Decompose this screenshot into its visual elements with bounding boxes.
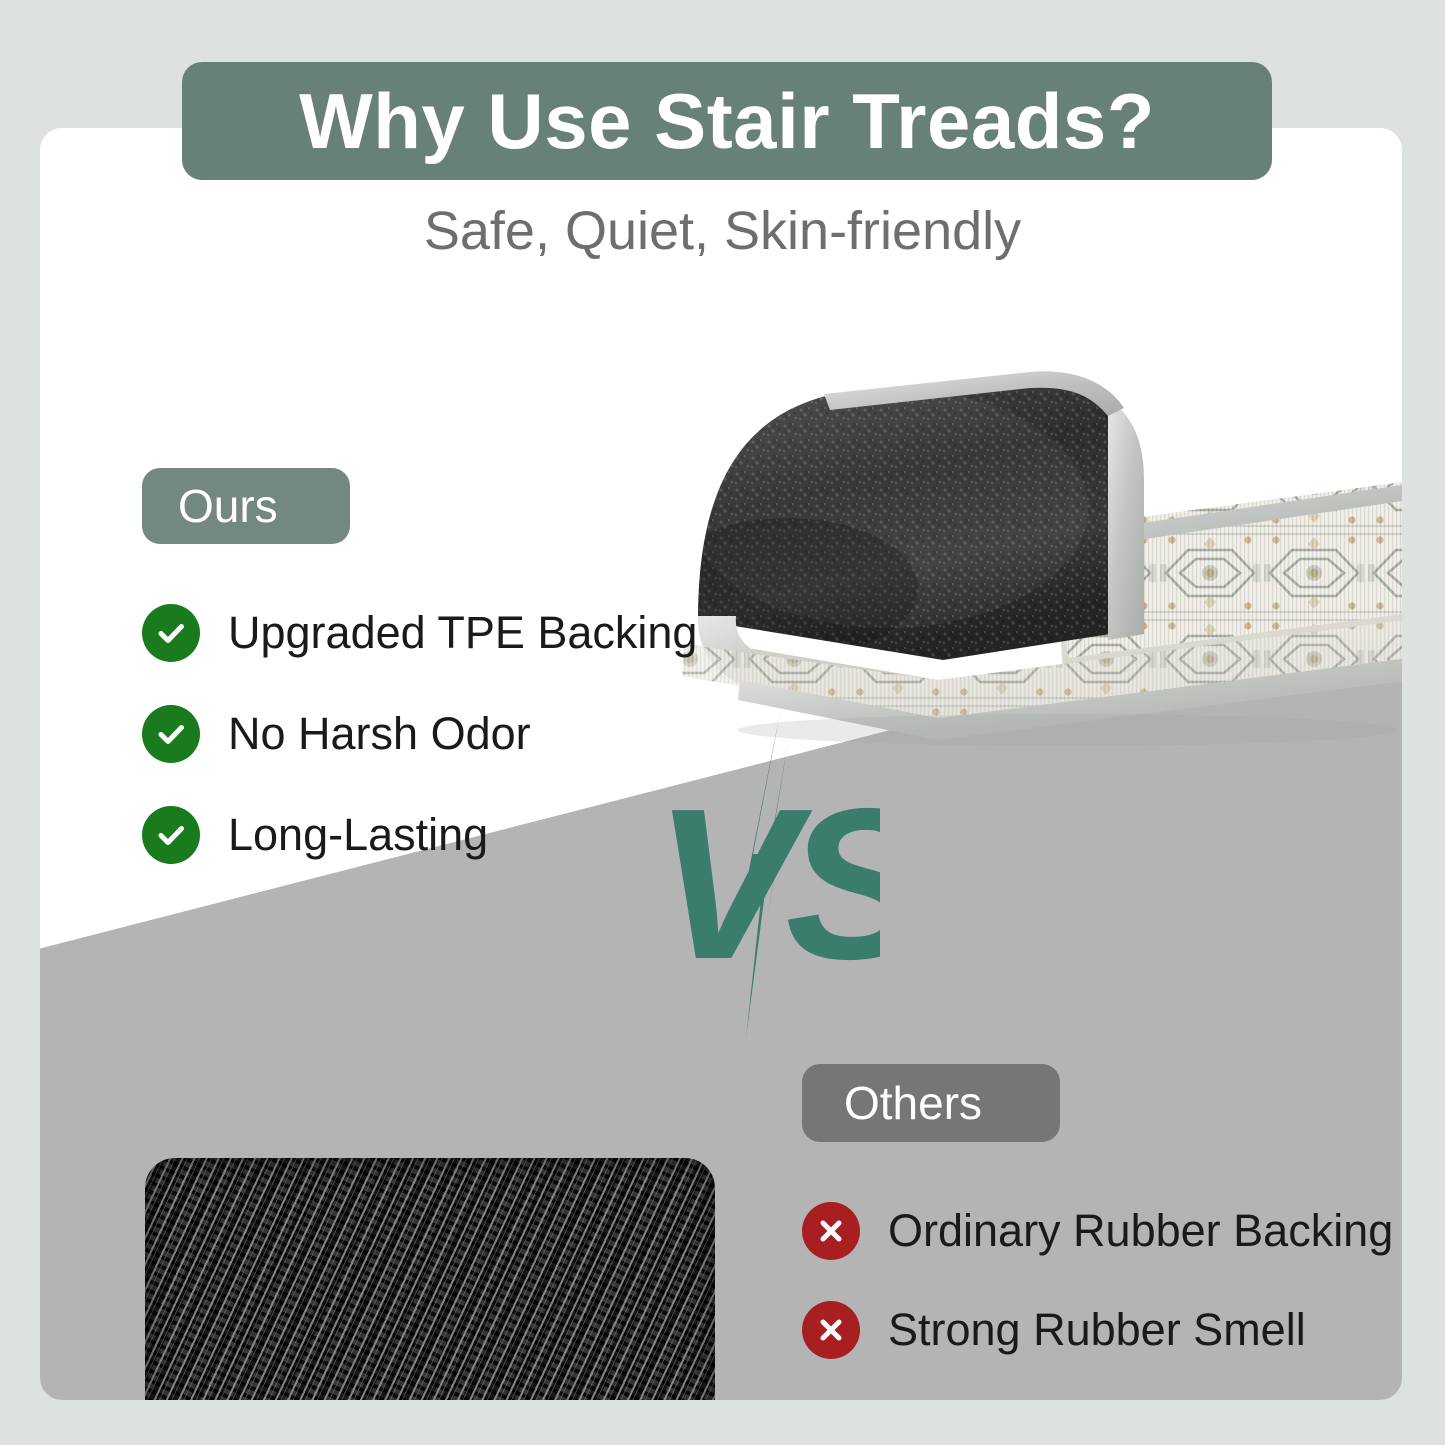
versus-mark: VS [650, 708, 880, 1038]
page-title: Why Use Stair Treads? [182, 62, 1272, 180]
feature-label: Upgraded TPE Backing [228, 607, 697, 659]
check-circle-icon [142, 806, 200, 864]
page-subtitle: Safe, Quiet, Skin-friendly [0, 200, 1445, 262]
page-title-text: Why Use Stair Treads? [299, 76, 1155, 167]
check-circle-icon [142, 705, 200, 763]
list-item: Non-durable [802, 1394, 1393, 1400]
cross-circle-icon [802, 1202, 860, 1260]
feature-label: No Harsh Odor [228, 708, 531, 760]
list-item: Strong Rubber Smell [802, 1295, 1393, 1365]
feature-label: Strong Rubber Smell [888, 1304, 1306, 1356]
feature-label: Long-Lasting [228, 809, 488, 861]
others-badge: Others [802, 1064, 1060, 1142]
ours-badge: Ours [142, 468, 350, 544]
others-product-image [145, 1158, 715, 1400]
svg-text:VS: VS [654, 763, 880, 1004]
others-feature-list: Ordinary Rubber Backing Strong Rubber Sm… [802, 1196, 1393, 1400]
comparison-card: VS Ours Upgraded TPE Backing [40, 128, 1402, 1400]
ours-badge-label: Ours [178, 479, 278, 533]
cross-circle-icon [802, 1301, 860, 1359]
feature-label: Ordinary Rubber Backing [888, 1205, 1393, 1257]
list-item: No Harsh Odor [142, 699, 697, 769]
list-item: Upgraded TPE Backing [142, 598, 697, 668]
others-badge-label: Others [844, 1076, 982, 1130]
infographic-canvas: VS Ours Upgraded TPE Backing [0, 0, 1445, 1445]
list-item: Long-Lasting [142, 800, 697, 870]
check-circle-icon [142, 604, 200, 662]
ours-feature-list: Upgraded TPE Backing No Harsh Odor Long-… [142, 598, 697, 901]
list-item: Ordinary Rubber Backing [802, 1196, 1393, 1266]
